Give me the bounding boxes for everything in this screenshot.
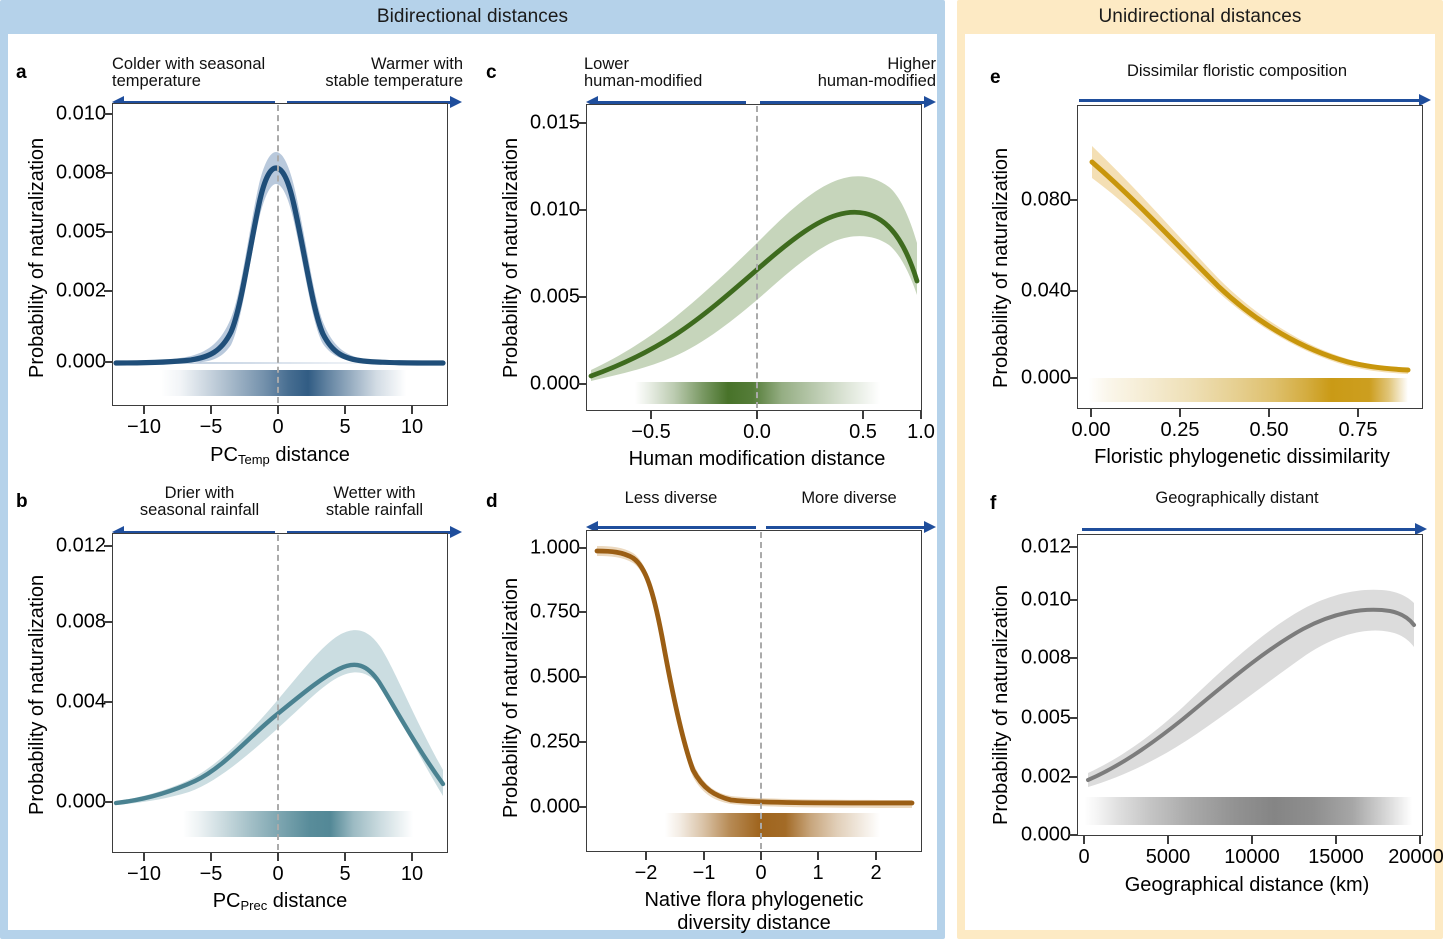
panel-e-x-axis-title: Floristic phylogenetic dissimilarity	[1052, 446, 1432, 469]
panel-c-plot-area	[586, 104, 922, 411]
panel-b-xtick-3: 5	[339, 863, 350, 886]
panel-b-ytick-3: 0.000	[34, 791, 106, 814]
panel-a: a Colder with seasonal temperature Warme…	[0, 48, 470, 478]
panel-f-curve	[1078, 535, 1421, 834]
panel-d-xtick-3: 1	[812, 862, 823, 885]
panel-d-reference-line	[760, 532, 762, 849]
panel-b-reference-line	[277, 535, 279, 850]
panel-a-curve	[113, 104, 446, 404]
panel-f-xtick-2: 10000	[1224, 846, 1280, 869]
panel-a-ytick-2: 0.005	[34, 221, 106, 244]
panel-d-x-title-line1: Native flora phylogenetic	[644, 889, 863, 911]
panel-c-curve	[587, 105, 920, 409]
panel-e-xtick-2: 0.50	[1250, 419, 1289, 442]
panel-f-x-axis-title: Geographical distance (km)	[1057, 874, 1437, 897]
panel-d-xtick-4: 2	[870, 862, 881, 885]
panel-e-direction-center: Dissimilar floristic composition	[1047, 63, 1427, 80]
panel-f-ytick-1: 0.010	[999, 589, 1071, 612]
panel-a-ytick-4: 0.000	[34, 351, 106, 374]
panel-f-xtick-3: 15000	[1308, 846, 1364, 869]
panel-a-ytick-1: 0.008	[34, 162, 106, 185]
panel-b-x-title-sub: Prec	[241, 898, 268, 913]
panel-f-y-axis-title: Probability of naturalization	[990, 585, 1013, 825]
panel-a-direction-left: Colder with seasonal temperature	[112, 56, 304, 90]
panel-d-ytick-2: 0.500	[508, 666, 580, 689]
panel-c-x-axis-title: Human modification distance	[572, 448, 942, 471]
panel-b: b Drier with seasonal rainfall Wetter wi…	[0, 480, 470, 920]
panel-d-x-axis-title: Native flora phylogenetic diversity dist…	[586, 889, 922, 935]
panel-a-letter: a	[16, 63, 27, 82]
panel-b-xtick-4: 10	[401, 863, 423, 886]
panel-c-y-axis-title: Probability of naturalization	[500, 138, 523, 378]
panel-c-reference-line	[756, 106, 758, 408]
panel-e-rug	[1088, 378, 1408, 402]
panel-c-direction-right: Higher human-modified	[754, 56, 936, 90]
panel-d-ytick-3: 0.250	[508, 731, 580, 754]
panel-d-letter: d	[486, 492, 498, 511]
panel-b-ytick-1: 0.008	[34, 611, 106, 634]
panel-b-x-title-main: PC	[213, 890, 241, 912]
panel-d-x-title-line2: diversity distance	[677, 912, 830, 934]
panel-a-reference-line	[277, 105, 279, 403]
panel-e-xtick-3: 0.75	[1339, 419, 1378, 442]
panel-c-xtick-3: 1.0	[907, 421, 935, 444]
panel-f-letter: f	[990, 494, 996, 513]
panel-d-rug	[665, 813, 880, 837]
panel-d: d Less diverse More diverse Probability …	[472, 480, 944, 930]
panel-a-xtick-2: 0	[272, 416, 283, 439]
panel-b-curve	[113, 534, 446, 851]
panel-c-xtick-2: 0.5	[849, 421, 877, 444]
panel-a-rug	[161, 370, 406, 396]
panel-e-ytick-0: 0.080	[999, 189, 1071, 212]
panel-d-curve	[587, 531, 920, 850]
panel-a-x-title-tail: distance	[270, 444, 350, 466]
panel-d-xtick-0: −2	[635, 862, 658, 885]
panel-a-xtick-4: 10	[401, 416, 423, 439]
panel-f-rug	[1084, 797, 1412, 825]
panel-b-xtick-2: 0	[272, 863, 283, 886]
panel-d-xtick-2: 0	[755, 862, 766, 885]
panel-f-ytick-3: 0.005	[999, 707, 1071, 730]
panel-c-ytick-3: 0.000	[508, 373, 580, 396]
panel-e-ytick-2: 0.000	[999, 367, 1071, 390]
panel-a-xtick-0: −10	[127, 416, 161, 439]
panel-a-xtick-1: −5	[200, 416, 223, 439]
panel-d-ytick-4: 0.000	[508, 796, 580, 819]
panel-b-ytick-2: 0.004	[34, 691, 106, 714]
panel-a-direction-right: Warmer with stable temperature	[278, 56, 463, 90]
panel-b-letter: b	[16, 492, 28, 511]
figure-root: Bidirectional distances Unidirectional d…	[0, 0, 1443, 939]
panel-f-ytick-0: 0.012	[999, 536, 1071, 559]
group-unidirectional-title: Unidirectional distances	[957, 0, 1443, 34]
panel-d-plot-area	[586, 530, 922, 852]
panel-d-direction-left: Less diverse	[586, 490, 756, 507]
panel-a-ytick-3: 0.002	[34, 280, 106, 303]
panel-f-ytick-4: 0.002	[999, 766, 1071, 789]
panel-f-xtick-1: 5000	[1146, 846, 1191, 869]
panel-d-xtick-1: −1	[693, 862, 716, 885]
panel-d-ytick-0: 1.000	[508, 537, 580, 560]
panel-e: e Dissimilar floristic composition Proba…	[957, 48, 1443, 478]
panel-b-xtick-0: −10	[127, 863, 161, 886]
panel-c-ytick-0: 0.015	[508, 112, 580, 135]
panel-a-xtick-3: 5	[339, 416, 350, 439]
panel-f-direction-center: Geographically distant	[1067, 490, 1407, 507]
panel-a-x-axis-title: PCTemp distance	[112, 444, 448, 468]
panel-e-y-axis-title: Probability of naturalization	[990, 148, 1013, 388]
panel-b-x-axis-title: PCPrec distance	[112, 890, 448, 914]
panel-a-x-title-main: PC	[210, 444, 238, 466]
panel-c-letter: c	[486, 63, 497, 82]
panel-f-plot-area	[1077, 534, 1423, 836]
panel-d-ytick-1: 0.750	[508, 601, 580, 624]
panel-d-direction-right: More diverse	[764, 490, 934, 507]
panel-e-ytick-1: 0.040	[999, 280, 1071, 303]
panel-c: c Lower human-modified Higher human-modi…	[472, 48, 944, 478]
panel-c-xtick-0: −0.5	[631, 421, 670, 444]
panel-a-ytick-0: 0.010	[34, 103, 106, 126]
panel-f: f Geographically distant Probability of …	[957, 480, 1443, 920]
panel-f-xtick-0: 0	[1078, 846, 1089, 869]
panel-a-plot-area	[112, 103, 448, 406]
panel-b-direction-left: Drier with seasonal rainfall	[112, 485, 287, 519]
panel-e-xtick-0: 0.00	[1072, 419, 1111, 442]
panel-a-x-title-sub: Temp	[238, 452, 270, 467]
panel-b-xtick-1: −5	[200, 863, 223, 886]
panel-b-direction-right: Wetter with stable rainfall	[287, 485, 462, 519]
panel-c-ytick-2: 0.005	[508, 286, 580, 309]
panel-c-direction-left: Lower human-modified	[584, 56, 764, 90]
panel-e-plot-area	[1077, 105, 1423, 409]
panel-c-xtick-1: 0.0	[743, 421, 771, 444]
panel-e-curve	[1078, 106, 1421, 407]
group-bidirectional-title: Bidirectional distances	[0, 0, 945, 34]
panel-c-ytick-1: 0.010	[508, 199, 580, 222]
panel-e-xtick-1: 0.25	[1161, 419, 1200, 442]
panel-f-ytick-5: 0.000	[999, 824, 1071, 847]
panel-f-ytick-2: 0.008	[999, 647, 1071, 670]
panel-b-ytick-0: 0.012	[34, 535, 106, 558]
panel-f-xtick-4: 20000	[1388, 846, 1443, 869]
panel-b-x-title-tail: distance	[267, 890, 347, 912]
panel-b-rug	[183, 811, 413, 837]
panel-e-letter: e	[990, 68, 1001, 87]
panel-b-plot-area	[112, 533, 448, 853]
